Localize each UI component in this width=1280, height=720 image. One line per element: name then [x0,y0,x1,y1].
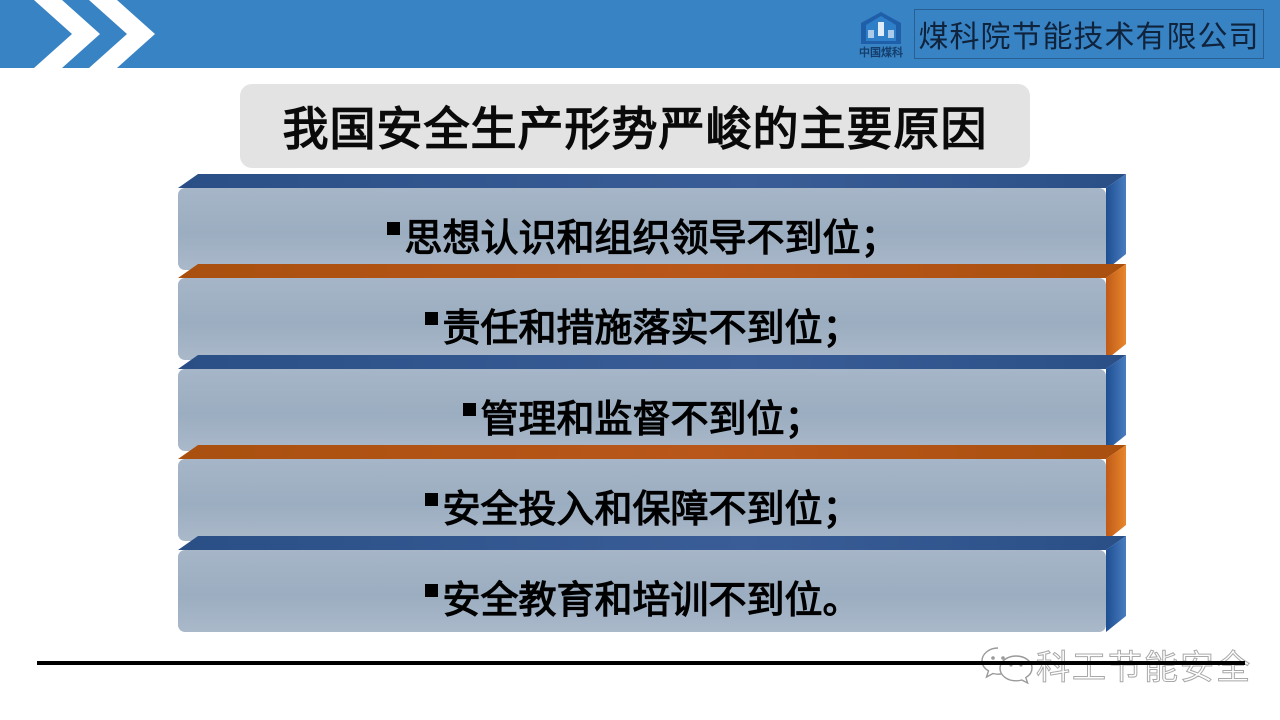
bullet-bar-1[interactable]: 思想认识和组织领导不到位； [178,188,1108,270]
bullet-bar-2[interactable]: 责任和措施落实不到位； [178,278,1108,360]
bullet-label-1: 思想认识和组织领导不到位； [178,198,1108,270]
bullet-square-icon [425,493,438,506]
bullet-square-icon [463,403,476,416]
bullet-text-3: 管理和监督不到位； [480,388,822,443]
slide-root: 中国煤科 煤科院节能技术有限公司 我国安全生产形势严峻的主要原因 [0,0,1280,720]
bullet-bar-3[interactable]: 管理和监督不到位； [178,369,1108,451]
bullet-bar-5[interactable]: 安全教育和培训不到位。 [178,550,1108,632]
bullet-bar-4[interactable]: 安全投入和保障不到位； [178,459,1108,541]
bullet-square-icon [387,222,400,235]
bullet-bar-list: 思想认识和组织领导不到位； [0,0,1280,720]
bullet-label-2: 责任和措施落实不到位； [178,288,1108,360]
bullet-square-icon [425,312,438,325]
bullet-label-3: 管理和监督不到位； [178,379,1108,451]
bullet-text-1: 思想认识和组织领导不到位； [404,207,898,262]
bullet-label-4: 安全投入和保障不到位； [178,469,1108,541]
bullet-square-icon [425,584,438,597]
bullet-text-5: 安全教育和培训不到位。 [442,569,860,624]
bullet-label-5: 安全教育和培训不到位。 [178,560,1108,632]
bullet-text-4: 安全投入和保障不到位； [442,478,860,533]
footer-rule [37,661,1245,665]
bullet-text-2: 责任和措施落实不到位； [442,297,860,352]
